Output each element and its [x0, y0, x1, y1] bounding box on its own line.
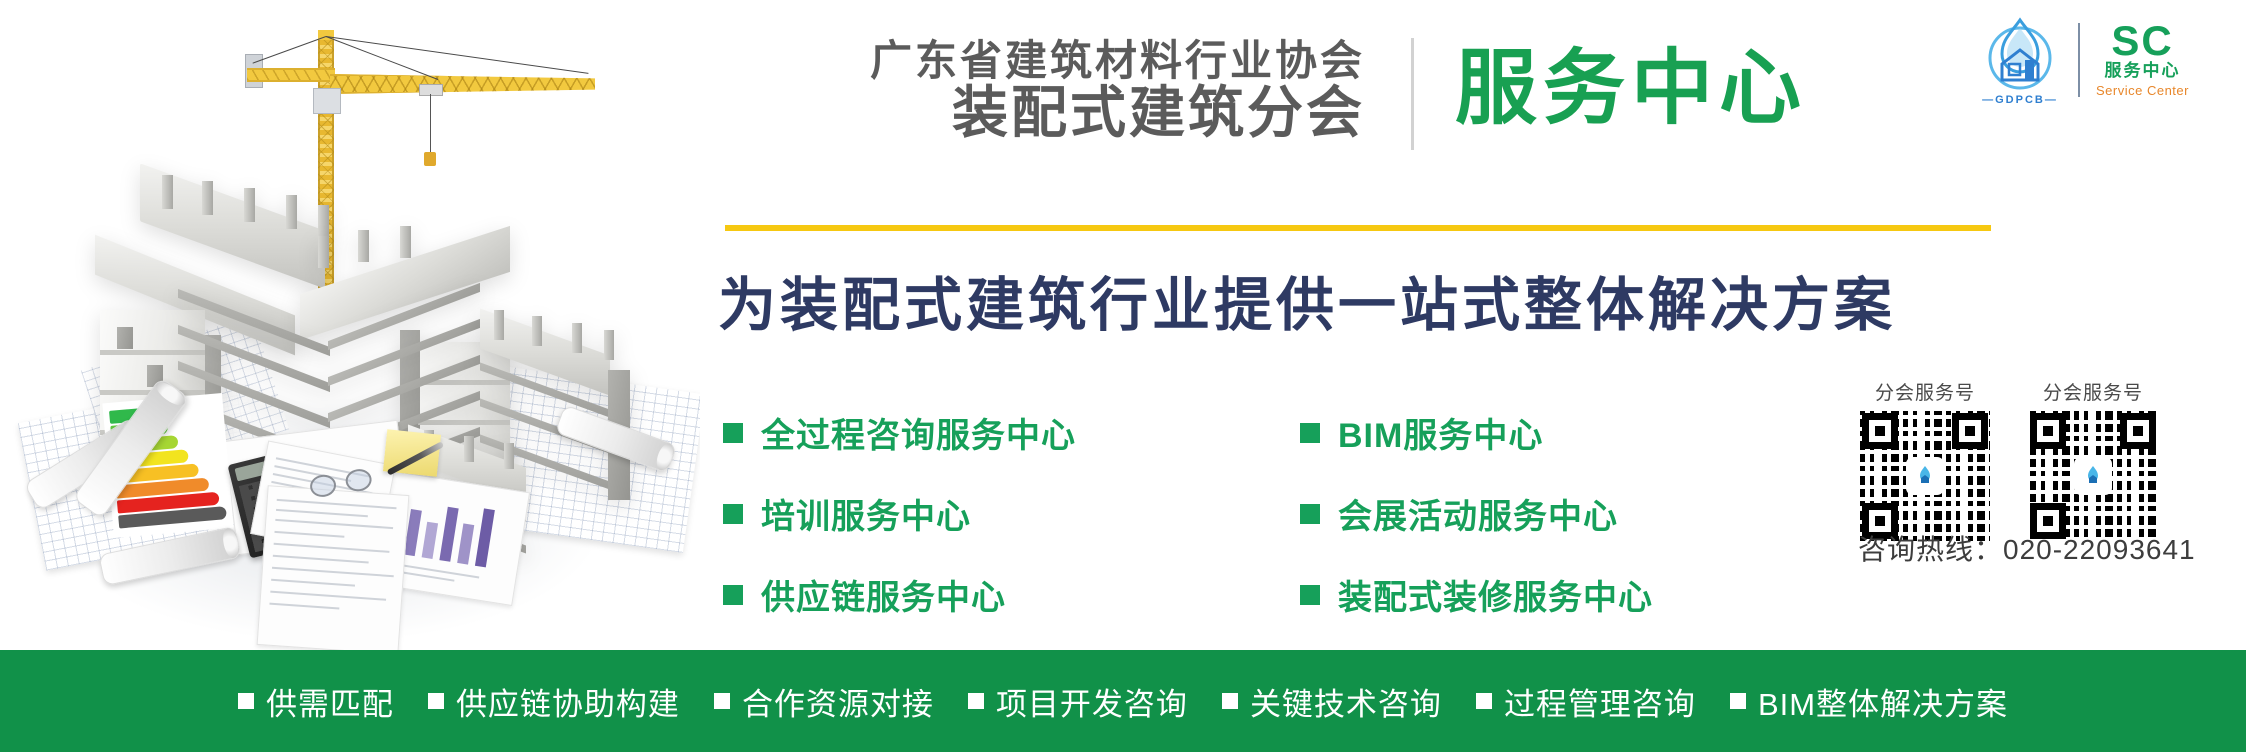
service-item-label: 供应链服务中心: [761, 570, 1006, 619]
capability-label: 供需匹配: [266, 679, 394, 724]
gdpcb-wordmark: —GDPCB—: [1978, 94, 2062, 106]
logo-divider: [2078, 23, 2080, 97]
qr-finder-icon: [2030, 413, 2066, 449]
capability-item[interactable]: 合作资源对接: [714, 679, 934, 724]
qr-caption: 分会服务号: [2028, 378, 2158, 405]
capability-item[interactable]: 供应链协助构建: [428, 679, 680, 724]
square-bullet-icon: [1300, 423, 1320, 443]
square-bullet-icon: [1300, 585, 1320, 605]
service-list-left: 全过程咨询服务中心 培训服务中心 供应链服务中心: [723, 408, 1076, 651]
square-bullet-icon: [968, 693, 984, 709]
sc-english-label: Service Center: [2096, 83, 2189, 100]
capability-item[interactable]: 关键技术咨询: [1222, 679, 1442, 724]
crane-trolley: [419, 84, 443, 96]
organization-branch: 装配式建筑分会: [845, 83, 1365, 143]
square-bullet-icon: [238, 693, 254, 709]
form-document: [257, 485, 410, 650]
square-bullet-icon: [1476, 693, 1492, 709]
capability-item[interactable]: 过程管理咨询: [1476, 679, 1696, 724]
organization-name: 广东省建筑材料行业协会: [845, 38, 1365, 83]
sc-chinese-label: 服务中心: [2096, 60, 2189, 82]
service-item[interactable]: 供应链服务中心: [723, 570, 1076, 619]
capability-label: 合作资源对接: [742, 679, 934, 724]
service-item-label: 装配式装修服务中心: [1338, 570, 1653, 619]
organization-title-block: 广东省建筑材料行业协会 装配式建筑分会: [845, 38, 1365, 144]
sc-logo-mark: SC 服务中心 Service Center: [2096, 21, 2189, 100]
square-bullet-icon: [1300, 504, 1320, 524]
title-divider: [1411, 38, 1414, 150]
service-item-label: 全过程咨询服务中心: [761, 408, 1076, 457]
capability-label: BIM整体解决方案: [1758, 679, 2008, 724]
qr-code-item[interactable]: 分会服务号: [2028, 378, 2158, 541]
crane-counter-jib: [247, 68, 335, 82]
square-bullet-icon: [1222, 693, 1238, 709]
capability-label: 供应链协助构建: [456, 679, 680, 724]
service-item[interactable]: 装配式装修服务中心: [1300, 570, 1653, 619]
service-item[interactable]: BIM服务中心: [1300, 408, 1653, 457]
service-list-right: BIM服务中心 会展活动服务中心 装配式装修服务中心: [1300, 408, 1653, 651]
square-bullet-icon: [723, 423, 743, 443]
wechat-qr-code[interactable]: [1860, 411, 1990, 541]
service-item-label: 会展活动服务中心: [1338, 489, 1618, 538]
brand-logo-group: —GDPCB— SC 服务中心 Service Center: [1978, 14, 2189, 106]
square-bullet-icon: [723, 585, 743, 605]
crane-tie-line: [253, 36, 327, 64]
service-center-title: 服务中心: [1455, 48, 1807, 130]
qr-finder-icon: [2120, 413, 2156, 449]
crane-cab: [313, 88, 341, 114]
crane-jib: [330, 74, 595, 94]
chart-bar: [422, 522, 438, 559]
service-item[interactable]: 培训服务中心: [723, 489, 1076, 538]
crane-tie-line: [326, 36, 438, 80]
qr-code-item[interactable]: 分会服务号: [1860, 378, 1990, 541]
capability-label: 项目开发咨询: [996, 679, 1188, 724]
chart-bar: [475, 508, 495, 567]
chart-bar: [439, 507, 458, 562]
service-item[interactable]: 会展活动服务中心: [1300, 489, 1653, 538]
square-bullet-icon: [714, 693, 730, 709]
promo-banner: 广东省建筑材料行业协会 装配式建筑分会 服务中心 为装配式建筑行业提供一站式整体…: [0, 0, 2246, 752]
wechat-qr-code[interactable]: [2028, 411, 2158, 541]
qr-finder-icon: [1952, 413, 1988, 449]
sc-initials: SC: [2096, 21, 2189, 61]
qr-center-logo-icon: [2076, 459, 2110, 493]
qr-caption: 分会服务号: [1860, 378, 1990, 405]
qr-finder-icon: [1862, 413, 1898, 449]
qr-code-group: 分会服务号 分会服务号: [1860, 378, 2158, 541]
square-bullet-icon: [1730, 693, 1746, 709]
crane-hook: [424, 152, 436, 166]
square-bullet-icon: [723, 504, 743, 524]
capability-item[interactable]: BIM整体解决方案: [1730, 679, 2008, 724]
capability-label: 过程管理咨询: [1504, 679, 1696, 724]
slogan-text: 为装配式建筑行业提供一站式整体解决方案: [718, 258, 1896, 342]
capability-item[interactable]: 项目开发咨询: [968, 679, 1188, 724]
service-item-label: BIM服务中心: [1338, 408, 1543, 457]
gdpcb-emblem-icon: —GDPCB—: [1978, 14, 2062, 106]
chart-bar: [457, 523, 474, 564]
construction-hero-image: [0, 0, 700, 650]
service-item-label: 培训服务中心: [761, 489, 971, 538]
qr-center-logo-icon: [1908, 459, 1942, 493]
service-item[interactable]: 全过程咨询服务中心: [723, 408, 1076, 457]
yellow-divider-rule: [725, 225, 1991, 231]
crane-tie-line: [326, 36, 589, 74]
capability-label: 关键技术咨询: [1250, 679, 1442, 724]
bottom-capability-bar: 供需匹配 供应链协助构建 合作资源对接 项目开发咨询 关键技术咨询 过程管理咨询…: [0, 650, 2246, 752]
square-bullet-icon: [428, 693, 444, 709]
crane-hook-line: [430, 94, 431, 154]
capability-item[interactable]: 供需匹配: [238, 679, 394, 724]
hotline-text: 咨询热线：020-22093641: [1858, 528, 2196, 568]
